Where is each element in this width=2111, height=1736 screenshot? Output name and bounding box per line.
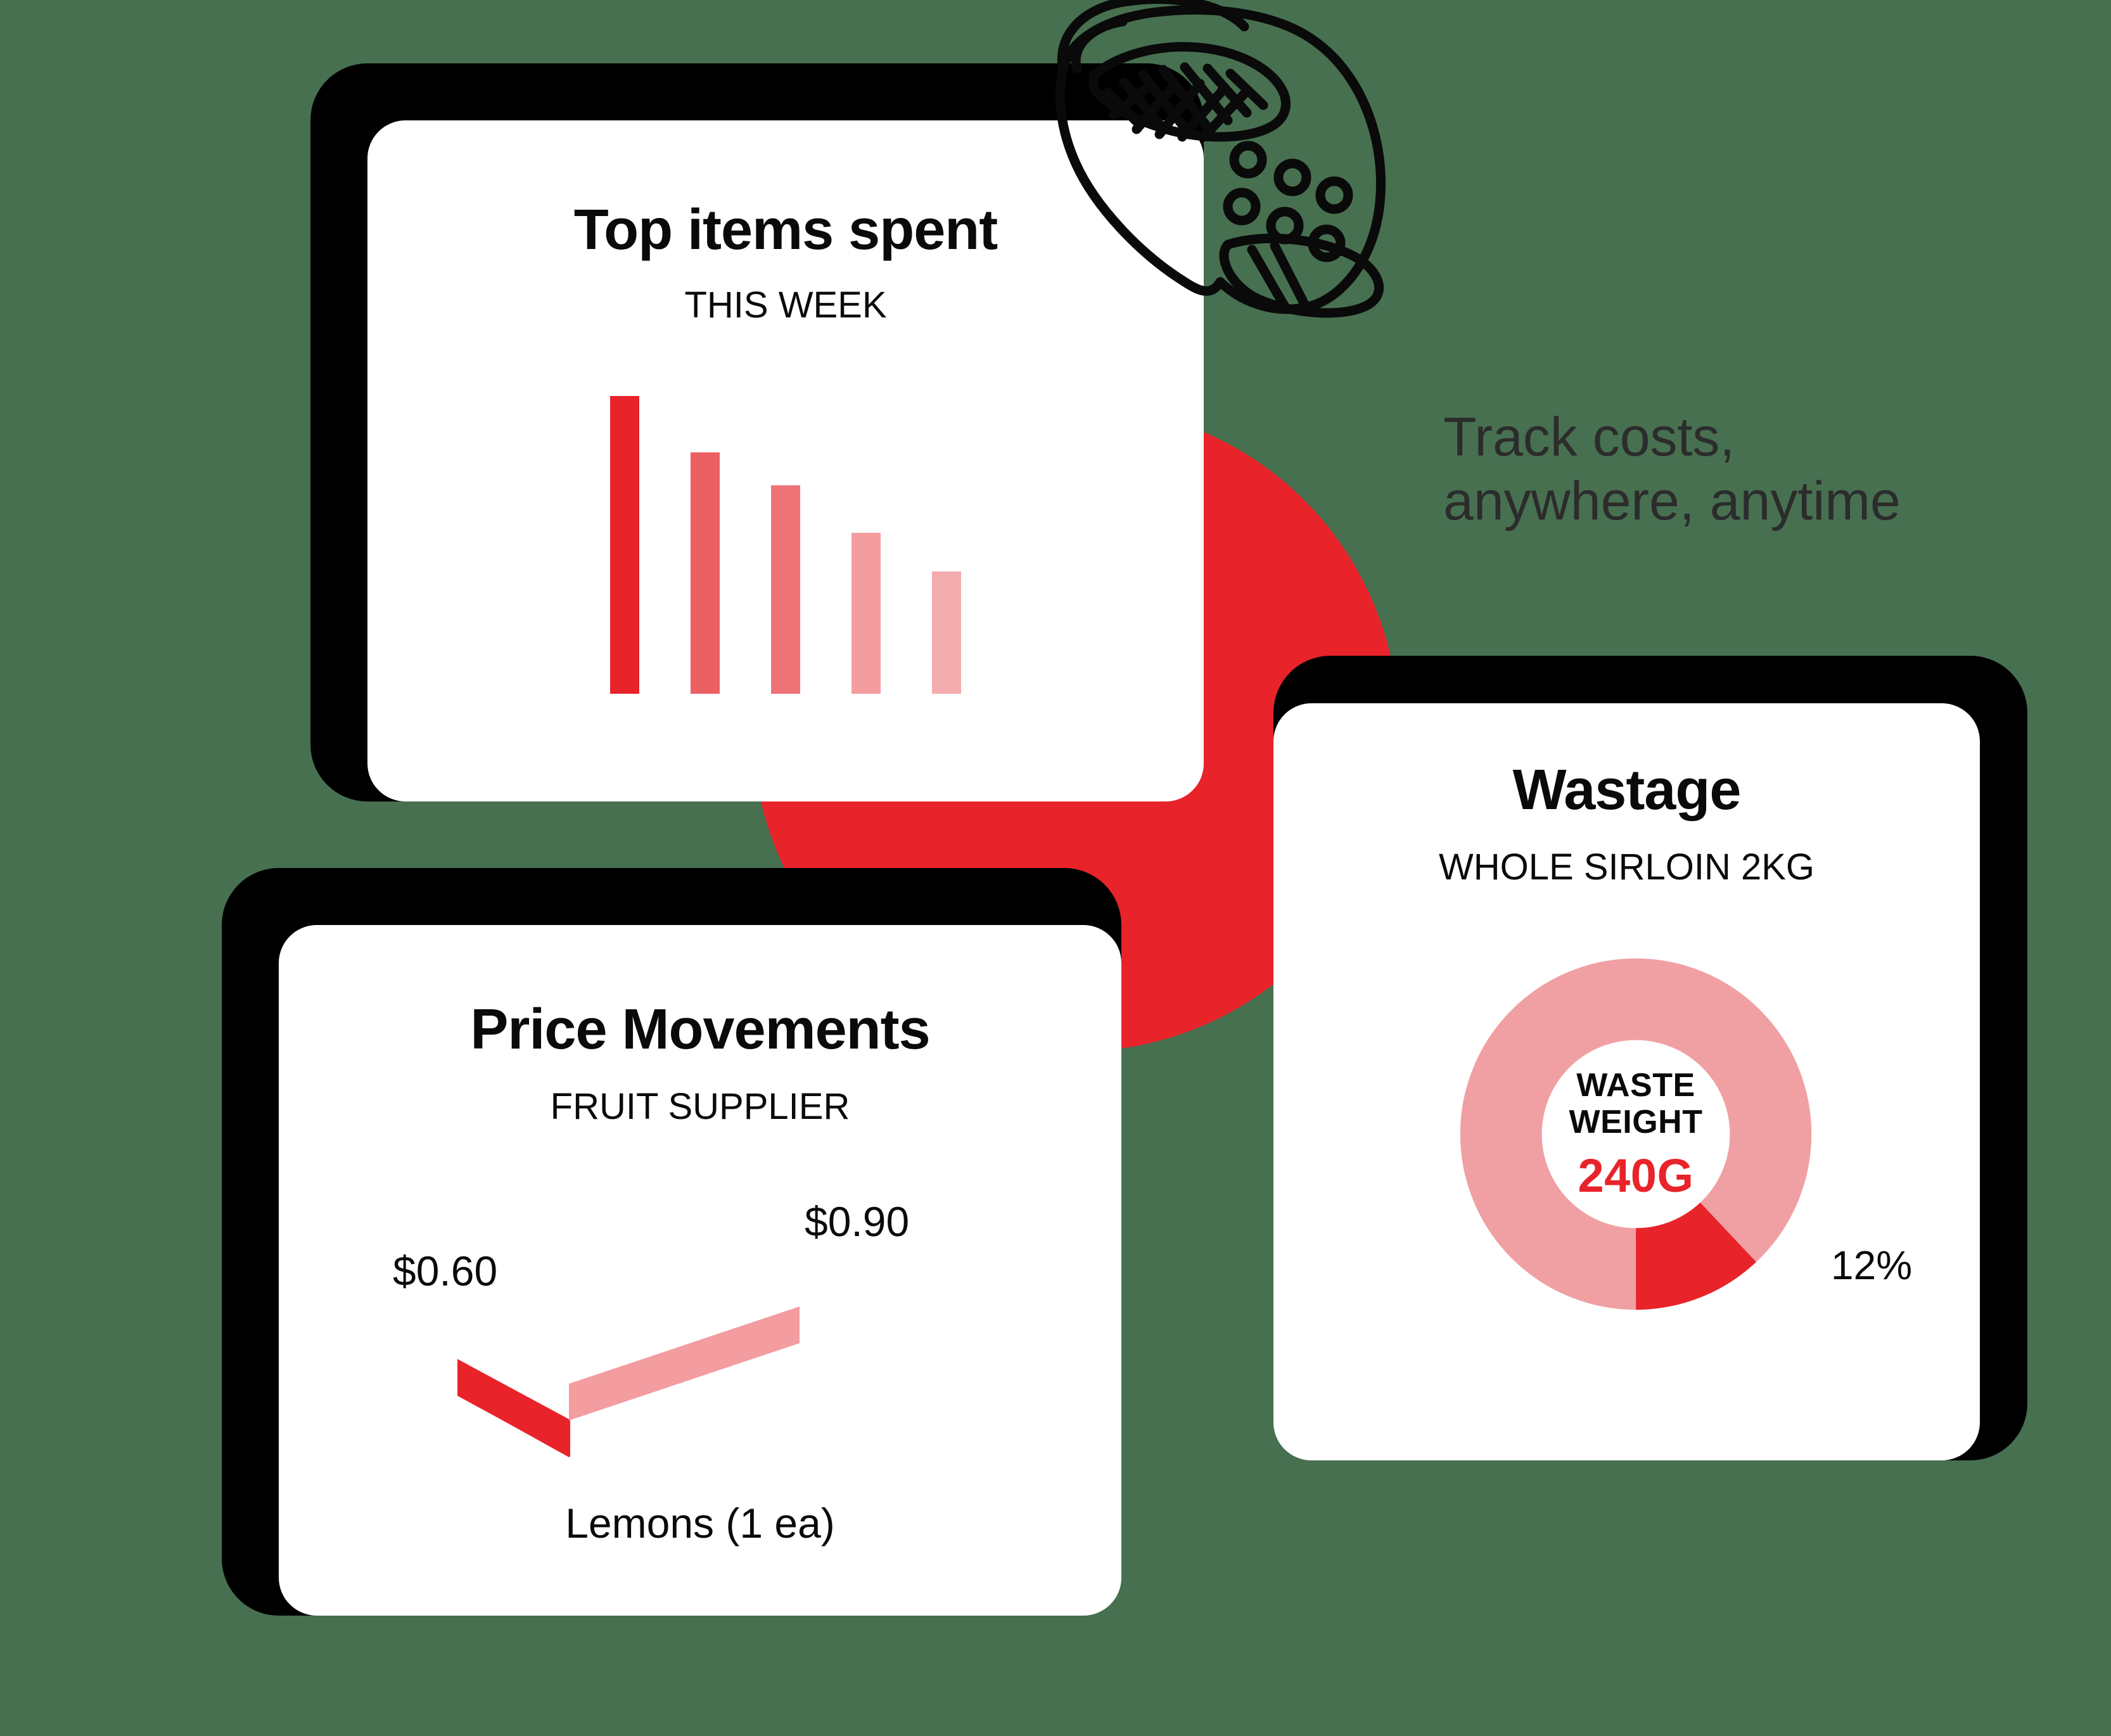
hero-illustration-canvas: Top items spent THIS WEEK Price Movement… [0,0,2111,1736]
donut-chart-wastage: WASTE WEIGHT 240G 12% [1273,944,1980,1400]
donut-percent-label: 12% [1831,1242,1912,1289]
card-surface: Price Movements FRUIT SUPPLIER $0.60 $0.… [279,925,1121,1616]
card-subtitle-wastage: WHOLE SIRLOIN 2KG [1273,849,1980,886]
hero-tagline: Track costs, anywhere, anytime [1443,405,1963,533]
price-item-label: Lemons (1 ea) [279,1499,1121,1547]
line-chart-price-movements: $0.60 $0.90 [279,1197,1121,1489]
page-title-price-movements: Price Movements [279,1001,1121,1058]
hero-tagline-line-1: Track costs, [1443,405,1963,469]
price-trend-line [279,1197,1121,1489]
bar-item-1 [610,396,639,694]
bar-item-5 [932,571,961,694]
price-label-start: $0.60 [393,1247,497,1295]
card-subtitle-price-movements: FRUIT SUPPLIER [279,1088,1121,1125]
pos-terminal-icon [1019,0,1462,329]
bar-chart-top-items [367,377,1204,694]
bar-item-3 [771,485,800,694]
card-surface: Wastage WHOLE SIRLOIN 2KG WASTE WEIGHT 2… [1273,703,1980,1460]
donut-rings [1458,957,1813,1312]
bar-item-4 [851,533,881,694]
bar-item-2 [691,452,720,694]
page-title-wastage: Wastage [1273,762,1980,819]
hero-tagline-line-2: anywhere, anytime [1443,469,1963,533]
price-label-end: $0.90 [805,1197,909,1246]
